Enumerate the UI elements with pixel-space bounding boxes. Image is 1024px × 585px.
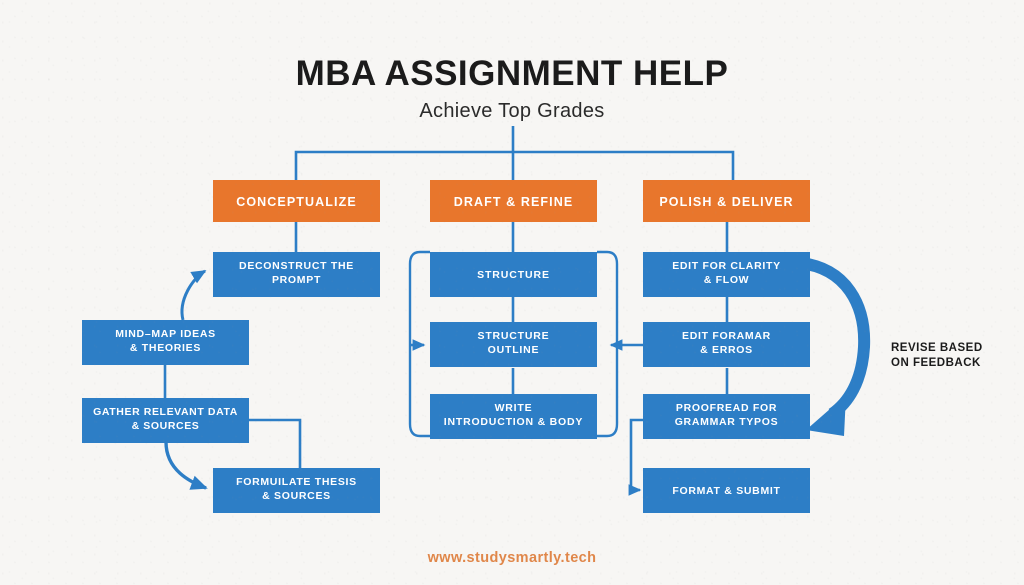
step-label-line2: & SOURCES bbox=[132, 420, 200, 432]
step-formulate-thesis[interactable]: FORMUILATE THESIS & SOURCES bbox=[213, 468, 380, 513]
column-header-label: POLISH & DELIVER bbox=[659, 195, 793, 209]
step-label-line2: & FLOW bbox=[704, 274, 750, 286]
step-label-line1: STRUCTURE bbox=[478, 330, 550, 342]
step-format-and-submit[interactable]: FORMAT & SUBMIT bbox=[643, 468, 810, 513]
step-label-line2: & SOURCES bbox=[262, 490, 331, 502]
step-label-line2: PROMPT bbox=[272, 274, 321, 286]
column-header-label: CONCEPTUALIZE bbox=[236, 195, 357, 209]
step-label-line2: & ERROS bbox=[700, 344, 753, 356]
page-title: MBA ASSIGNMENT HELP bbox=[296, 54, 729, 93]
step-label-line1: EDIT FOR CLARITY bbox=[672, 260, 781, 272]
page-subtitle: Achieve Top Grades bbox=[419, 100, 604, 122]
step-label-line1: MIND–MAP IDEAS bbox=[115, 328, 216, 340]
column-header-draft-and-refine[interactable]: DRAFT & REFINE bbox=[430, 180, 597, 222]
step-mind-map-ideas[interactable]: MIND–MAP IDEAS & THEORIES bbox=[82, 320, 249, 365]
step-label-line1: WRITE bbox=[495, 402, 533, 414]
step-label-line1: PROOFREAD FOR bbox=[676, 402, 777, 414]
step-write-introduction-and-body[interactable]: WRITE INTRODUCTION & BODY bbox=[430, 394, 597, 439]
step-edit-for-clarity-and-flow[interactable]: EDIT FOR CLARITY & FLOW bbox=[643, 252, 810, 297]
step-label-line1: FORMUILATE THESIS bbox=[236, 476, 357, 488]
annotation-line2: ON FEEDBACK bbox=[891, 357, 981, 369]
step-label-line1: FORMAT & SUBMIT bbox=[672, 485, 780, 497]
footer-url[interactable]: www.studysmartly.tech bbox=[427, 550, 597, 566]
step-gather-relevant-data[interactable]: GATHER RELEVANT DATA & SOURCES bbox=[82, 398, 249, 443]
step-label-line2: OUTLINE bbox=[488, 344, 540, 356]
step-label-line2: INTRODUCTION & BODY bbox=[444, 416, 583, 428]
step-label-line1: STRUCTURE bbox=[477, 269, 550, 281]
step-label-line2: GRAMMAR TYPOS bbox=[675, 416, 779, 428]
step-edit-foramar-and-erros[interactable]: EDIT FORAMAR & ERROS bbox=[643, 322, 810, 367]
step-deconstruct-the-prompt[interactable]: DECONSTRUCT THE PROMPT bbox=[213, 252, 380, 297]
step-structure-outline[interactable]: STRUCTURE OUTLINE bbox=[430, 322, 597, 367]
annotation-line1: REVISE BASED bbox=[891, 342, 983, 354]
step-label-line2: & THEORIES bbox=[130, 342, 201, 354]
step-label-line1: GATHER RELEVANT DATA bbox=[93, 406, 238, 418]
step-label-line1: EDIT FORAMAR bbox=[682, 330, 771, 342]
column-header-label: DRAFT & REFINE bbox=[454, 195, 574, 209]
step-label-line1: DECONSTRUCT THE bbox=[239, 260, 354, 272]
infographic-canvas: MBA ASSIGNMENT HELP Achieve Top Grades C… bbox=[0, 0, 1024, 585]
step-structure[interactable]: STRUCTURE bbox=[430, 252, 597, 297]
step-proofread-for-grammar-typos[interactable]: PROOFREAD FOR GRAMMAR TYPOS bbox=[643, 394, 810, 439]
column-header-conceptualize[interactable]: CONCEPTUALIZE bbox=[213, 180, 380, 222]
column-header-polish-and-deliver[interactable]: POLISH & DELIVER bbox=[643, 180, 810, 222]
